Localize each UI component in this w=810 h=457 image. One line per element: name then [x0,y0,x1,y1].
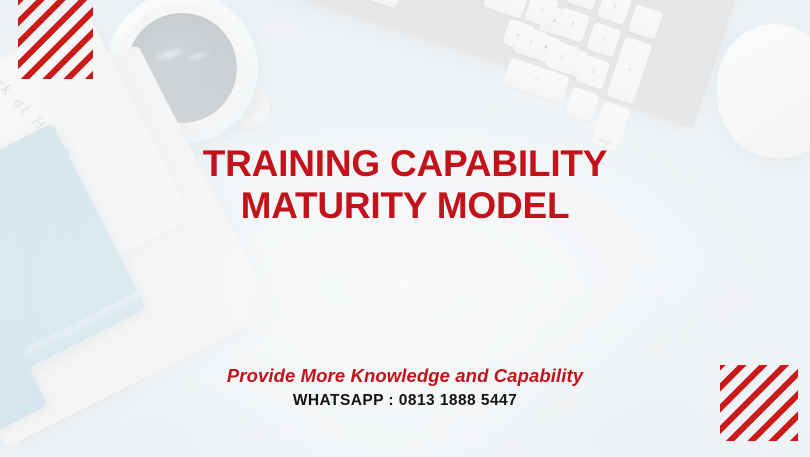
keypad-key-6: 6 [586,22,621,57]
keyboard-key-shift: shift [406,0,489,1]
keypad-key-4: 4 [524,0,559,28]
keypad-key-9: 9 [597,0,632,25]
keypad-key-minus: - [628,4,663,39]
diagonal-stripes-top-left [18,0,93,79]
diagonal-stripes-bottom-right [720,365,798,441]
keypad-key-5: 5 [555,7,590,42]
desk-photo-background: shift ◀ ▼ ▶ ▲ 8 9 - 4 5 6 + 1 2 3 0 [0,0,810,457]
keypad-key-1: 1 [513,25,548,60]
promotional-banner: shift ◀ ▼ ▶ ▲ 8 9 - 4 5 6 + 1 2 3 0 [0,0,810,457]
keyboard-key-blank-3 [357,0,406,9]
